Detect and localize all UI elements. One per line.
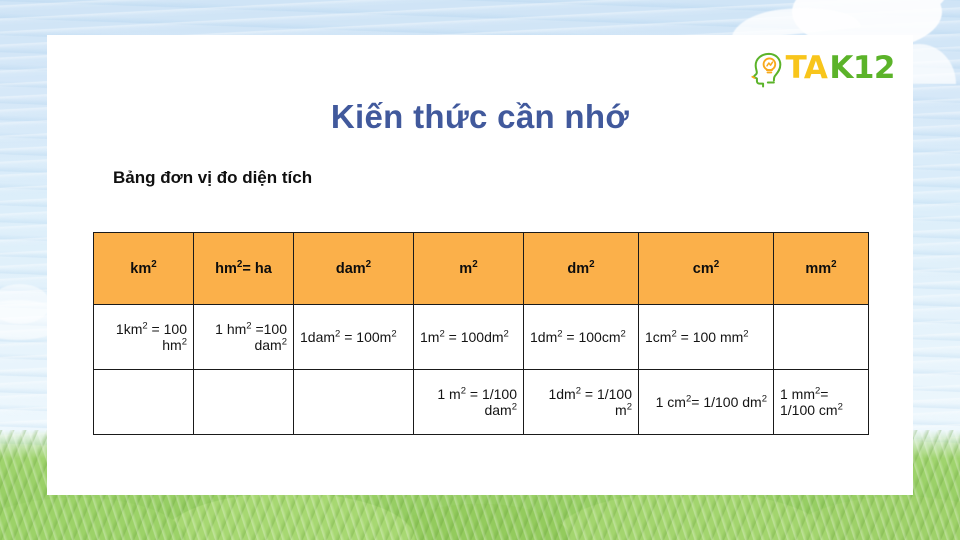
cell-r2c4: 1 m2 = 1/100 dam2 [414, 370, 524, 435]
column-header-cm2: cm2 [639, 233, 774, 305]
cell-r2c3 [294, 370, 414, 435]
table-row: 1 m2 = 1/100 dam2 1dm2 = 1/100 m2 1 cm2=… [94, 370, 869, 435]
area-unit-table: km2 hm2= ha dam2 m2 dm2 cm2 mm2 1km2 = 1… [93, 232, 869, 435]
cell-r1c3: 1dam2 = 100m2 [294, 305, 414, 370]
cell-r1c7 [774, 305, 869, 370]
column-header-km2: km2 [94, 233, 194, 305]
table-row: 1km2 = 100 hm2 1 hm2 =100 dam2 1dam2 = 1… [94, 305, 869, 370]
slide-canvas: TAK12 Kiến thức cần nhớ Bảng đơn vị đo d… [0, 0, 960, 540]
column-header-hm2: hm2= ha [194, 233, 294, 305]
page-title: Kiến thức cần nhớ [47, 98, 913, 136]
cell-r1c6: 1cm2 = 100 mm2 [639, 305, 774, 370]
content-card: TAK12 Kiến thức cần nhớ Bảng đơn vị đo d… [47, 35, 913, 495]
cell-r2c2 [194, 370, 294, 435]
cell-r1c2: 1 hm2 =100 dam2 [194, 305, 294, 370]
column-header-dam2: dam2 [294, 233, 414, 305]
column-header-mm2: mm2 [774, 233, 869, 305]
cell-r2c7: 1 mm2= 1/100 cm2 [774, 370, 869, 435]
brand-logo[interactable]: TAK12 [744, 48, 895, 88]
logo-text-ta: TA [786, 53, 828, 84]
head-lightbulb-icon [744, 48, 784, 88]
logo-text-k12: K12 [829, 53, 895, 84]
cell-r2c5: 1dm2 = 1/100 m2 [524, 370, 639, 435]
cell-r1c4: 1m2 = 100dm2 [414, 305, 524, 370]
cell-r1c1: 1km2 = 100 hm2 [94, 305, 194, 370]
cell-r2c1 [94, 370, 194, 435]
column-header-dm2: dm2 [524, 233, 639, 305]
cell-r1c5: 1dm2 = 100cm2 [524, 305, 639, 370]
table-header-row: km2 hm2= ha dam2 m2 dm2 cm2 mm2 [94, 233, 869, 305]
column-header-m2: m2 [414, 233, 524, 305]
table-body: 1km2 = 100 hm2 1 hm2 =100 dam2 1dam2 = 1… [94, 305, 869, 435]
cell-r2c6: 1 cm2= 1/100 dm2 [639, 370, 774, 435]
table-header: km2 hm2= ha dam2 m2 dm2 cm2 mm2 [94, 233, 869, 305]
section-subtitle: Bảng đơn vị đo diện tích [113, 168, 312, 188]
